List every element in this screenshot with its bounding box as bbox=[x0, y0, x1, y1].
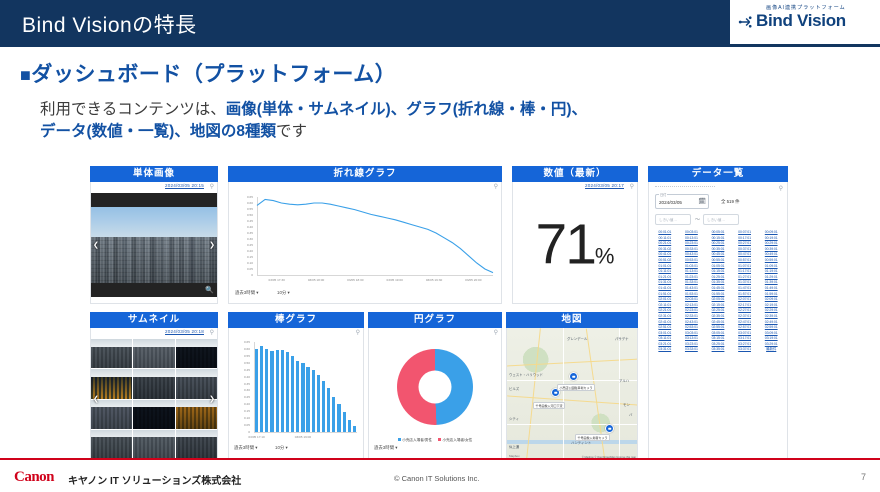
data-list-cell[interactable]: 00:15:01 bbox=[705, 236, 731, 240]
data-list-cell[interactable]: 03:37:01 bbox=[732, 347, 758, 352]
bar-chart-bar bbox=[306, 367, 309, 432]
data-list-cell[interactable]: 01:59:01 bbox=[758, 292, 784, 296]
bar-chart-y-tick: 0.25 bbox=[244, 395, 250, 399]
section-heading-text: ダッシュボード（プラットフォーム） bbox=[31, 63, 396, 86]
data-list-cell[interactable]: 00:03:01 bbox=[679, 230, 705, 234]
data-list-cell[interactable]: 00:57:01 bbox=[732, 258, 758, 262]
line-chart-range-select[interactable]: 過去3時間 ▾ bbox=[235, 290, 258, 296]
data-list-cell[interactable]: 03:35:01 bbox=[705, 347, 731, 352]
map-marker-camera-icon[interactable] bbox=[569, 372, 578, 381]
map-label: バ bbox=[629, 412, 632, 417]
card-title-line-chart: 折れ線グラフ bbox=[228, 166, 502, 182]
numeric-value-area: 71% bbox=[513, 193, 637, 301]
data-list-cell[interactable]: 02:23:01 bbox=[679, 308, 705, 312]
range-dash-label: 〜 bbox=[695, 216, 700, 223]
bar-chart-y-tick: 0.10 bbox=[244, 416, 250, 420]
data-list-grid[interactable]: 00:01:0100:03:0100:05:0100:07:0100:09:01… bbox=[652, 230, 784, 352]
slide-footer: Canon キヤノン IT ソリューションズ株式会社 © Canon IT So… bbox=[0, 458, 880, 492]
data-list-cell[interactable]: 00:49:01 bbox=[758, 252, 784, 256]
numeric-value: 71% bbox=[536, 211, 615, 277]
data-list-cell[interactable]: 02:51:01 bbox=[652, 325, 678, 329]
bar-chart-y-tick: 0 bbox=[248, 430, 250, 434]
data-list-cell[interactable]: 02:33:01 bbox=[679, 314, 705, 318]
photo-letterbox-top bbox=[91, 193, 217, 207]
data-list-cell[interactable]: 00:09:01 bbox=[758, 230, 784, 234]
thumbnail-cityscape bbox=[91, 437, 132, 459]
thumbnail-item[interactable] bbox=[133, 400, 174, 429]
data-list-cell[interactable]: 02:55:01 bbox=[705, 325, 731, 329]
canon-logo: Canon bbox=[14, 469, 54, 486]
bar-chart-y-tick: 0.20 bbox=[244, 402, 250, 406]
single-image-viewer[interactable]: ❮ ❯ 🔍 bbox=[91, 193, 217, 297]
data-list-divider bbox=[655, 186, 715, 187]
data-list-cell[interactable]: 01:15:01 bbox=[705, 269, 731, 273]
single-image-timestamp: 2024/03/05 20:15 bbox=[165, 183, 204, 188]
bar-chart-bar bbox=[260, 346, 263, 432]
map-label: ウェスト・ハリウッド bbox=[509, 372, 543, 377]
data-list-cell[interactable]: 02:31:01 bbox=[652, 314, 678, 318]
map-road bbox=[619, 328, 620, 460]
data-list-cell[interactable]: 00:05:01 bbox=[705, 230, 731, 234]
data-list-cell[interactable]: 01:11:01 bbox=[652, 269, 678, 273]
chevron-left-icon[interactable]: ❮ bbox=[93, 395, 99, 403]
data-list-cell[interactable]: 01:45:01 bbox=[705, 286, 731, 290]
data-list-cell[interactable]: 00:21:01 bbox=[652, 241, 678, 245]
thumbnail-cityscape bbox=[133, 437, 174, 459]
card-title-numeric: 数値（最新） bbox=[512, 166, 638, 182]
bar-chart-plot[interactable]: 00.050.100.150.200.250.300.350.400.450.5… bbox=[234, 339, 358, 443]
chevron-right-icon[interactable]: ❯ bbox=[209, 241, 215, 249]
data-list-cell[interactable]: 03:29:01 bbox=[758, 342, 784, 346]
description-highlight-1: 画像(単体・サムネイル)、グラフ(折れ線・棒・円)、 bbox=[226, 101, 587, 118]
data-list-cell[interactable]: 02:27:01 bbox=[732, 308, 758, 312]
copyright-text: © Canon IT Solutions Inc. bbox=[394, 474, 479, 483]
data-list-cell[interactable]: 01:21:01 bbox=[652, 275, 678, 279]
data-list-cell[interactable]: 00:47:01 bbox=[732, 252, 758, 256]
bar-chart-y-tick: 0.60 bbox=[244, 347, 250, 351]
card-title-data-list: データ一覧 bbox=[648, 166, 788, 182]
data-list-cell[interactable]: 02:03:01 bbox=[679, 297, 705, 301]
bar-chart-bar bbox=[332, 397, 335, 432]
data-list-cell[interactable]: 02:17:01 bbox=[732, 303, 758, 307]
bar-chart-y-tick: 0.45 bbox=[244, 368, 250, 372]
bar-chart-bar bbox=[322, 381, 325, 432]
data-list-cell[interactable]: 00:29:01 bbox=[758, 241, 784, 245]
photo-letterbox-bottom bbox=[91, 283, 217, 297]
bullet-square-icon: ■ bbox=[20, 65, 31, 85]
pie-chart-legend: 小売店入場者/男性 小売店入場者/女性 bbox=[369, 438, 501, 443]
line-chart-controls: 過去3時間 ▾ 10分 ▾ bbox=[229, 287, 501, 301]
bar-chart-y-tick: 0.05 bbox=[244, 423, 250, 427]
card-title-single-image: 単体画像 bbox=[90, 166, 218, 182]
data-list-cell[interactable]: 01:29:01 bbox=[758, 275, 784, 279]
data-list-cell[interactable]: 00:27:01 bbox=[732, 241, 758, 245]
bar-chart-bar bbox=[337, 404, 340, 432]
data-list-cell[interactable]: 02:19:01 bbox=[758, 303, 784, 307]
thumbnail-meta: 2024/03/05 20:18 ⚲ bbox=[91, 328, 217, 339]
chevron-right-icon[interactable]: ❯ bbox=[209, 395, 215, 403]
bar-chart-bar bbox=[281, 350, 284, 432]
data-list-cell[interactable]: 00:37:01 bbox=[732, 247, 758, 251]
data-list-cell[interactable]: 01:51:01 bbox=[652, 292, 678, 296]
bar-chart-bar bbox=[265, 349, 268, 432]
legend-label-female: 小売店入場者/女性 bbox=[443, 438, 473, 442]
map-label: ビルズ bbox=[509, 386, 519, 391]
pin-icon[interactable]: ⚲ bbox=[210, 183, 214, 190]
data-list-cell[interactable]: 00:39:01 bbox=[758, 247, 784, 251]
thumbnail-cityscape bbox=[91, 407, 132, 429]
legend-label-male: 小売店入場者/男性 bbox=[402, 438, 432, 442]
data-list-cell[interactable]: 00:35:01 bbox=[705, 247, 731, 251]
data-list-cell[interactable]: 01:13:01 bbox=[679, 269, 705, 273]
map-label: 似上通 bbox=[509, 444, 519, 449]
data-list-cell[interactable]: 00:43:01 bbox=[679, 252, 705, 256]
legend-item-female: 小売店入場者/女性 bbox=[438, 438, 472, 443]
map-label: グレンデール bbox=[567, 336, 587, 341]
data-list-cell[interactable]: 03:31:01 bbox=[652, 347, 678, 352]
map-label: パサデナ bbox=[615, 336, 629, 341]
data-list-cell[interactable]: 02:25:01 bbox=[705, 308, 731, 312]
bar-chart-bar bbox=[291, 356, 294, 432]
data-list-cell[interactable]: 03:25:01 bbox=[705, 342, 731, 346]
pie-chart-meta: ⚲ bbox=[369, 328, 501, 339]
line-chart-interval-select[interactable]: 10分 ▾ bbox=[277, 290, 290, 296]
map-chip[interactable]: 千号画像入場者カメラ bbox=[575, 434, 610, 441]
bind-vision-mark-icon bbox=[738, 14, 756, 30]
bar-chart-bar bbox=[348, 420, 351, 432]
bar-chart-bar bbox=[296, 361, 299, 432]
data-list-cell[interactable]: 01:01:01 bbox=[652, 264, 678, 268]
data-list-cell[interactable]: 01:03:01 bbox=[679, 264, 705, 268]
data-list-cell[interactable]: 02:37:01 bbox=[732, 314, 758, 318]
data-list-cell[interactable]: 01:19:01 bbox=[758, 269, 784, 273]
map-chip[interactable]: 千号画像入河口下流 bbox=[533, 402, 565, 409]
bar-chart-controls: 過去3時間 ▾ 10分 ▾ bbox=[229, 443, 363, 457]
data-list-pane: ⚲ 日付 2024/03/05 🗓 全 519 件 しきい値… 〜 しきい値… … bbox=[649, 182, 787, 462]
donut-ring bbox=[397, 349, 473, 425]
data-list-cell[interactable]: 01:35:01 bbox=[705, 280, 731, 284]
data-list-cell[interactable]: 01:31:01 bbox=[652, 280, 678, 284]
card-title-thumbnail: サムネイル bbox=[90, 312, 218, 328]
data-list-cell[interactable]: 00:25:01 bbox=[705, 241, 731, 245]
map-chip[interactable]: 小売店公園駐車場カメラ bbox=[557, 384, 595, 391]
data-list-cell[interactable]: 03:01:01 bbox=[652, 331, 678, 335]
brand-logo: 画像AI連携プラットフォーム Bind Vision bbox=[730, 0, 880, 47]
data-list-cell[interactable]: 03:13:01 bbox=[679, 336, 705, 340]
description-suffix: です bbox=[276, 123, 307, 140]
data-list-cell[interactable]: 00:51:02 bbox=[652, 258, 678, 262]
legend-swatch-male bbox=[398, 438, 401, 441]
data-list-cell[interactable]: 02:41:01 bbox=[652, 320, 678, 324]
data-list-cell[interactable]: 03:05:01 bbox=[705, 331, 731, 335]
data-list-cell[interactable]: 01:05:01 bbox=[705, 264, 731, 268]
data-list-cell[interactable]: 00:07:01 bbox=[732, 230, 758, 234]
date-field-label: 日付 bbox=[659, 192, 667, 197]
slide-header: Bind Visionの特長 画像AI連携プラットフォーム Bind Visio… bbox=[0, 0, 880, 47]
pin-icon[interactable]: ⚲ bbox=[356, 329, 360, 336]
data-list-cell[interactable]: 02:09:01 bbox=[758, 297, 784, 301]
thumbnail-item[interactable] bbox=[133, 369, 174, 398]
card-thumbnail[interactable]: サムネイル 2024/03/05 20:18 ⚲ ❮ ❯ bbox=[90, 312, 218, 462]
data-list-cell[interactable]: 02:21:01 bbox=[652, 308, 678, 312]
date-field-value: 2024/03/05 bbox=[659, 200, 682, 205]
card-line-chart[interactable]: 折れ線グラフ ⚲ 00.050.100.150.200.250.300.350.… bbox=[228, 166, 502, 304]
data-list-cell[interactable]: 01:55:01 bbox=[705, 292, 731, 296]
bar-chart-y-tick: 0.15 bbox=[244, 409, 250, 413]
data-list-cell[interactable]: 02:57:01 bbox=[732, 325, 758, 329]
data-list-cell[interactable]: 03:17:01 bbox=[732, 336, 758, 340]
data-list-cell[interactable]: 最新件 bbox=[758, 347, 784, 352]
data-list-cell[interactable]: 02:47:01 bbox=[732, 320, 758, 324]
thumbnail-cityscape bbox=[176, 437, 217, 459]
data-list-cell[interactable]: 02:11:01 bbox=[652, 303, 678, 307]
map-road bbox=[507, 424, 637, 425]
data-list-cell[interactable]: 01:25:01 bbox=[705, 275, 731, 279]
data-list-cell[interactable]: 01:39:01 bbox=[758, 280, 784, 284]
data-list-cell[interactable]: 02:01:01 bbox=[652, 297, 678, 301]
page-title: Bind Visionの特長 bbox=[22, 9, 197, 39]
card-numeric[interactable]: 数値（最新） 2024/03/05 20:17 ⚲ 71% bbox=[512, 166, 638, 304]
data-list-cell[interactable]: 01:17:01 bbox=[732, 269, 758, 273]
pie-chart-controls: 過去3時間 ▾ bbox=[369, 444, 501, 456]
data-list-cell[interactable]: 01:27:01 bbox=[732, 275, 758, 279]
map-label: モン bbox=[623, 402, 630, 407]
bar-chart-y-tick: 0.35 bbox=[244, 382, 250, 386]
threshold-from-input[interactable]: しきい値… bbox=[655, 214, 691, 225]
calendar-icon[interactable]: 🗓 bbox=[698, 198, 706, 205]
data-list-cell[interactable]: 01:37:01 bbox=[732, 280, 758, 284]
card-title-map: 地図 bbox=[506, 312, 638, 328]
numeric-timestamp: 2024/03/05 20:17 bbox=[585, 183, 624, 188]
bar-chart-y-tick: 0.55 bbox=[244, 354, 250, 358]
data-list-cell[interactable]: 00:13:01 bbox=[679, 236, 705, 240]
data-list-cell[interactable]: 01:49:01 bbox=[758, 286, 784, 290]
data-list-cell[interactable]: 00:31:02 bbox=[652, 247, 678, 251]
card-data-list[interactable]: データ一覧 ⚲ 日付 2024/03/05 🗓 全 519 件 しきい値… 〜 … bbox=[648, 166, 788, 462]
data-list-cell[interactable]: 00:17:01 bbox=[732, 236, 758, 240]
bar-chart-bar bbox=[317, 375, 320, 432]
data-list-cell[interactable]: 00:01:01 bbox=[652, 230, 678, 234]
thumbnail-cityscape bbox=[133, 407, 174, 429]
data-list-cell[interactable]: 03:19:01 bbox=[758, 336, 784, 340]
thumbnail-item[interactable] bbox=[91, 339, 132, 368]
bar-chart-bar bbox=[286, 352, 289, 432]
card-title-pie-chart: 円グラフ bbox=[368, 312, 502, 328]
thumbnail-item[interactable] bbox=[133, 430, 174, 459]
bar-chart-y-tick: 0.30 bbox=[244, 388, 250, 392]
map-label: アルハ bbox=[619, 378, 629, 383]
card-pie-chart[interactable]: 円グラフ ⚲ 小売店入場者/男性 小売店入場者/女性 過去3時間 ▾ bbox=[368, 312, 502, 462]
data-list-cell[interactable]: 00:33:01 bbox=[679, 247, 705, 251]
data-list-cell[interactable]: 02:29:01 bbox=[758, 308, 784, 312]
line-chart-meta: ⚲ bbox=[229, 182, 501, 193]
map-road bbox=[563, 328, 564, 460]
card-title-bar-chart: 棒グラフ bbox=[228, 312, 364, 328]
data-list-cell[interactable]: 01:43:01 bbox=[679, 286, 705, 290]
bar-chart-bar bbox=[255, 349, 258, 432]
data-list-cell[interactable]: 03:27:01 bbox=[732, 342, 758, 346]
data-list-cell[interactable]: 02:05:01 bbox=[705, 297, 731, 301]
record-count: 全 519 件 bbox=[721, 199, 740, 205]
map-marker-camera-icon[interactable] bbox=[605, 424, 614, 433]
magnifier-icon[interactable]: 🔍 bbox=[205, 286, 214, 294]
data-list-cell[interactable]: 01:23:01 bbox=[679, 275, 705, 279]
thumbnail-grid[interactable] bbox=[91, 339, 217, 459]
data-list-cell[interactable]: 01:57:01 bbox=[732, 292, 758, 296]
data-list-cell[interactable]: 02:53:01 bbox=[679, 325, 705, 329]
thumbnail-timestamp: 2024/03/05 20:18 bbox=[165, 329, 204, 334]
data-list-cell[interactable]: 03:15:01 bbox=[705, 336, 731, 340]
pin-icon[interactable]: ⚲ bbox=[630, 183, 634, 190]
card-bar-chart[interactable]: 棒グラフ ⚲ 00.050.100.150.200.250.300.350.40… bbox=[228, 312, 364, 462]
data-list-cell[interactable]: 01:53:01 bbox=[679, 292, 705, 296]
data-list-cell[interactable]: 00:55:01 bbox=[705, 258, 731, 262]
data-list-cell[interactable]: 00:53:01 bbox=[679, 258, 705, 262]
data-list-cell[interactable]: 01:33:01 bbox=[679, 280, 705, 284]
thumbnail-item[interactable] bbox=[91, 430, 132, 459]
data-list-cell[interactable]: 03:21:01 bbox=[652, 342, 678, 346]
legend-swatch-female bbox=[438, 438, 441, 441]
description-prefix: 利用できるコンテンツは、 bbox=[40, 101, 226, 118]
bar-chart-meta: ⚲ bbox=[229, 328, 363, 339]
thumbnail-item[interactable] bbox=[91, 400, 132, 429]
description-highlight-2: データ(数値・一覧)、地図の8種類 bbox=[40, 123, 276, 140]
bar-chart-x-tick: 03/05 19:00 bbox=[295, 435, 311, 439]
bar-chart-bar bbox=[270, 351, 273, 432]
pin-icon[interactable]: ⚲ bbox=[494, 183, 498, 190]
pin-icon[interactable]: ⚲ bbox=[779, 185, 783, 192]
thumbnail-cityscape bbox=[133, 347, 174, 369]
data-list-cell[interactable]: 03:23:01 bbox=[679, 342, 705, 346]
pin-icon[interactable]: ⚲ bbox=[494, 329, 498, 336]
bar-chart-bar bbox=[312, 370, 315, 432]
data-list-cell[interactable]: 02:59:01 bbox=[758, 325, 784, 329]
bar-chart-y-tick: 0.50 bbox=[244, 361, 250, 365]
map-viewport[interactable]: グレンデール パサデナ ウェスト・ハリウッド ビルズ アルハ モン バ シティ … bbox=[507, 328, 637, 460]
single-image-meta: 2024/03/05 20:15 ⚲ bbox=[91, 182, 217, 193]
thumbnail-cityscape bbox=[176, 347, 217, 369]
data-list-cell[interactable]: 01:07:01 bbox=[732, 264, 758, 268]
data-list-cell[interactable]: 00:41:01 bbox=[652, 252, 678, 256]
line-chart-plot[interactable]: 00.050.100.150.200.250.300.350.400.450.5… bbox=[235, 193, 495, 287]
data-list-cell[interactable]: 00:45:01 bbox=[705, 252, 731, 256]
data-list-cell[interactable]: 03:09:01 bbox=[758, 331, 784, 335]
pie-chart-range-select[interactable]: 過去3時間 ▾ bbox=[374, 445, 397, 451]
bar-chart-x-axis bbox=[254, 432, 357, 433]
bar-chart-interval-select[interactable]: 10分 ▾ bbox=[275, 445, 288, 451]
bar-chart-range-select[interactable]: 過去3時間 ▾ bbox=[234, 445, 257, 451]
card-single-image[interactable]: 単体画像 2024/03/05 20:15 ⚲ ❮ ❯ 🔍 bbox=[90, 166, 218, 304]
data-list-cell[interactable]: 02:13:01 bbox=[679, 303, 705, 307]
data-list-cell[interactable]: 02:43:01 bbox=[679, 320, 705, 324]
bar-chart-bar bbox=[301, 363, 304, 432]
data-list-cell[interactable]: 02:39:01 bbox=[758, 314, 784, 318]
numeric-meta: 2024/03/05 20:17 ⚲ bbox=[513, 182, 637, 193]
data-list-cell[interactable]: 03:33:01 bbox=[679, 347, 705, 352]
brand-logo-name: Bind Vision bbox=[756, 11, 846, 31]
thumbnail-cityscape bbox=[133, 377, 174, 399]
legend-item-male: 小売店入場者/男性 bbox=[398, 438, 432, 443]
pie-chart-plot[interactable] bbox=[369, 339, 501, 434]
thumbnail-item[interactable] bbox=[133, 339, 174, 368]
thumbnail-cityscape bbox=[91, 347, 132, 369]
map-label: シティ bbox=[509, 416, 519, 421]
threshold-to-input[interactable]: しきい値… bbox=[703, 214, 739, 225]
data-list-cell[interactable]: 03:07:01 bbox=[732, 331, 758, 335]
data-list-cell[interactable]: 00:19:01 bbox=[758, 236, 784, 240]
thumbnail-item[interactable] bbox=[176, 339, 217, 368]
data-list-cell[interactable]: 00:59:01 bbox=[758, 258, 784, 262]
bar-chart-y-tick: 0.40 bbox=[244, 375, 250, 379]
data-list-cell[interactable]: 02:45:01 bbox=[705, 320, 731, 324]
numeric-unit: % bbox=[595, 243, 615, 268]
chevron-left-icon[interactable]: ❮ bbox=[93, 241, 99, 249]
section-heading: ■ダッシュボード（プラットフォーム） bbox=[20, 58, 396, 88]
data-list-cell[interactable]: 00:11:01 bbox=[652, 236, 678, 240]
bar-chart-x-tick: 03/05 17:10 bbox=[248, 435, 264, 439]
bar-chart-bar bbox=[327, 388, 330, 432]
data-list-cell[interactable]: 02:07:01 bbox=[732, 297, 758, 301]
data-list-cell[interactable]: 02:15:01 bbox=[705, 303, 731, 307]
bar-chart-bar bbox=[343, 412, 346, 432]
thumbnail-cityscape bbox=[176, 407, 217, 429]
company-name: キヤノン IT ソリューションズ株式会社 bbox=[68, 472, 241, 487]
page-number: 7 bbox=[861, 472, 866, 482]
data-list-cell[interactable]: 01:09:01 bbox=[758, 264, 784, 268]
data-list-cell[interactable]: 02:35:01 bbox=[705, 314, 731, 318]
data-list-cell[interactable]: 01:41:01 bbox=[652, 286, 678, 290]
data-list-cell[interactable]: 01:47:01 bbox=[732, 286, 758, 290]
data-list-cell[interactable]: 00:23:01 bbox=[679, 241, 705, 245]
data-list-cell[interactable]: 02:49:01 bbox=[758, 320, 784, 324]
section-description: 利用できるコンテンツは、画像(単体・サムネイル)、グラフ(折れ線・棒・円)、 デ… bbox=[40, 99, 870, 143]
thumbnail-item[interactable] bbox=[176, 400, 217, 429]
date-field[interactable]: 日付 2024/03/05 🗓 bbox=[655, 194, 709, 209]
line-chart-series bbox=[235, 193, 497, 287]
data-list-cell[interactable]: 03:11:01 bbox=[652, 336, 678, 340]
card-map[interactable]: 地図 グレンデール パサデナ ウェスト・ハリウッド ビルズ アルハ モン バ シ… bbox=[506, 312, 638, 462]
bar-chart-y-tick: 0.65 bbox=[244, 340, 250, 344]
data-list-cell[interactable]: 03:03:01 bbox=[679, 331, 705, 335]
bar-chart-bar bbox=[353, 426, 356, 432]
thumbnail-item[interactable] bbox=[176, 430, 217, 459]
bar-chart-bar bbox=[276, 350, 279, 432]
brand-logo-superscript: 画像AI連携プラットフォーム bbox=[766, 4, 846, 11]
pin-icon[interactable]: ⚲ bbox=[210, 329, 214, 336]
